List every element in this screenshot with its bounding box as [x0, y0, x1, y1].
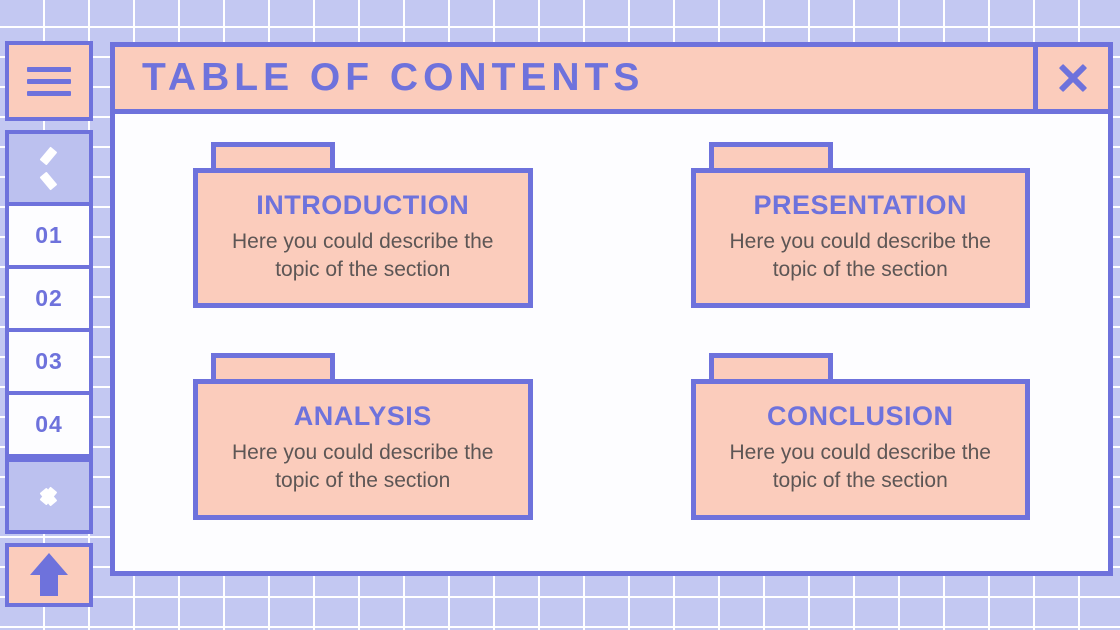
sidebar-item-03[interactable]: 03 — [9, 332, 89, 395]
section-card-introduction[interactable]: INTRODUCTION Here you could describe the… — [193, 142, 533, 308]
section-title: INTRODUCTION — [210, 190, 516, 221]
hamburger-line — [27, 79, 71, 84]
section-title: CONCLUSION — [708, 401, 1014, 432]
folder-tab-icon — [211, 142, 335, 168]
sidebar-item-02[interactable]: 02 — [9, 269, 89, 332]
sections-grid: INTRODUCTION Here you could describe the… — [115, 114, 1108, 520]
folder-tab-icon — [709, 353, 833, 379]
section-card-presentation[interactable]: PRESENTATION Here you could describe the… — [691, 142, 1031, 308]
section-description: Here you could describe the topic of the… — [210, 228, 516, 283]
section-description: Here you could describe the topic of the… — [708, 228, 1014, 283]
sidebar-item-label: 02 — [35, 285, 63, 312]
sidebar-item-01[interactable]: 01 — [9, 206, 89, 269]
slide-canvas: 01 02 03 04 TABLE OF CONTENTS — [0, 0, 1120, 630]
folder-tab-icon — [709, 142, 833, 168]
section-description: Here you could describe the topic of the… — [708, 439, 1014, 494]
folder-body: ANALYSIS Here you could describe the top… — [193, 379, 533, 519]
close-icon — [1056, 61, 1090, 95]
slide-nav-stack: 01 02 03 04 — [5, 130, 93, 534]
next-slide-button[interactable] — [9, 458, 89, 530]
scroll-up-button[interactable] — [5, 543, 93, 607]
close-button[interactable] — [1033, 47, 1108, 109]
sidebar-item-label: 04 — [35, 411, 63, 438]
folder-tab-icon — [211, 353, 335, 379]
sidebar-item-04[interactable]: 04 — [9, 395, 89, 458]
folder-body: PRESENTATION Here you could describe the… — [691, 168, 1031, 308]
chevron-left-icon — [39, 151, 59, 185]
hamburger-line — [27, 67, 71, 72]
window-titlebar: TABLE OF CONTENTS — [115, 47, 1108, 114]
folder-body: INTRODUCTION Here you could describe the… — [193, 168, 533, 308]
hamburger-line — [27, 91, 71, 96]
previous-slide-button[interactable] — [9, 134, 89, 206]
section-title: ANALYSIS — [210, 401, 516, 432]
chevron-right-icon — [39, 479, 59, 513]
folder-body: CONCLUSION Here you could describe the t… — [691, 379, 1031, 519]
content-window: TABLE OF CONTENTS INTRODUCTION Here you … — [110, 42, 1113, 576]
hamburger-icon — [27, 60, 71, 103]
section-card-conclusion[interactable]: CONCLUSION Here you could describe the t… — [691, 353, 1031, 519]
section-title: PRESENTATION — [708, 190, 1014, 221]
section-description: Here you could describe the topic of the… — [210, 439, 516, 494]
menu-button[interactable] — [5, 41, 93, 121]
section-card-analysis[interactable]: ANALYSIS Here you could describe the top… — [193, 353, 533, 519]
page-title: TABLE OF CONTENTS — [115, 47, 1033, 109]
sidebar-item-label: 03 — [35, 348, 63, 375]
sidebar-item-label: 01 — [35, 222, 63, 249]
sidebar: 01 02 03 04 — [5, 41, 93, 607]
